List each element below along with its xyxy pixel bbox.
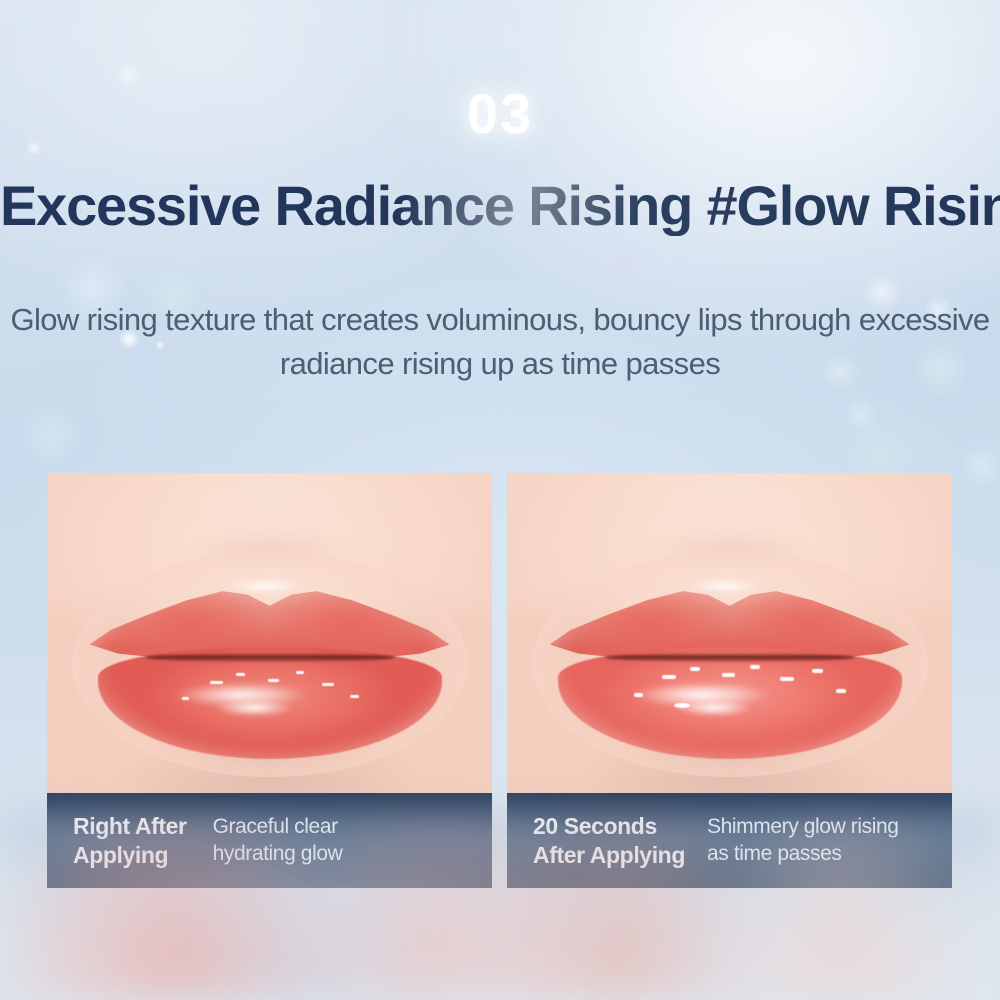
shimmer-sparkle — [350, 695, 359, 698]
shimmer-sparkle — [812, 669, 823, 673]
lip-line — [145, 653, 395, 662]
philtrum-shadow — [155, 487, 385, 557]
shimmer-sparkle — [780, 677, 794, 681]
lips-shape — [550, 569, 910, 759]
bottom-bokeh-blur — [0, 810, 1000, 1000]
page-subtitle: Glow rising texture that creates volumin… — [0, 298, 1000, 386]
gloss-highlight-upper — [670, 575, 780, 597]
shimmer-sparkle — [750, 665, 760, 669]
shimmer-sparkle — [722, 673, 735, 677]
lips-photo-20-seconds-after-applying — [507, 473, 952, 793]
lips-photo-right-after-applying — [47, 473, 492, 793]
page-title: Excessive Radiance Rising #Glow Rising — [0, 176, 1000, 236]
gloss-highlight-secondary — [194, 695, 314, 721]
shimmer-sparkle — [634, 693, 643, 697]
lips-shape — [90, 569, 450, 759]
section-number: 03 — [0, 86, 1000, 142]
shimmer-sparkle — [322, 683, 334, 686]
lip-line — [605, 653, 855, 662]
shimmer-sparkle — [690, 667, 700, 671]
shimmer-sparkle — [662, 675, 676, 679]
shimmer-sparkle — [836, 689, 846, 693]
gloss-highlight-secondary — [654, 695, 774, 721]
shimmer-sparkle — [210, 681, 223, 684]
shimmer-sparkle — [182, 697, 189, 700]
marketing-banner: 03 Excessive Radiance Rising #Glow Risin… — [0, 0, 1000, 1000]
shimmer-sparkle — [296, 671, 304, 674]
philtrum-shadow — [615, 487, 845, 557]
shimmer-sparkle — [674, 703, 690, 708]
shimmer-sparkle — [268, 679, 279, 682]
shimmer-sparkle — [236, 673, 245, 676]
gloss-highlight-upper — [210, 575, 320, 597]
